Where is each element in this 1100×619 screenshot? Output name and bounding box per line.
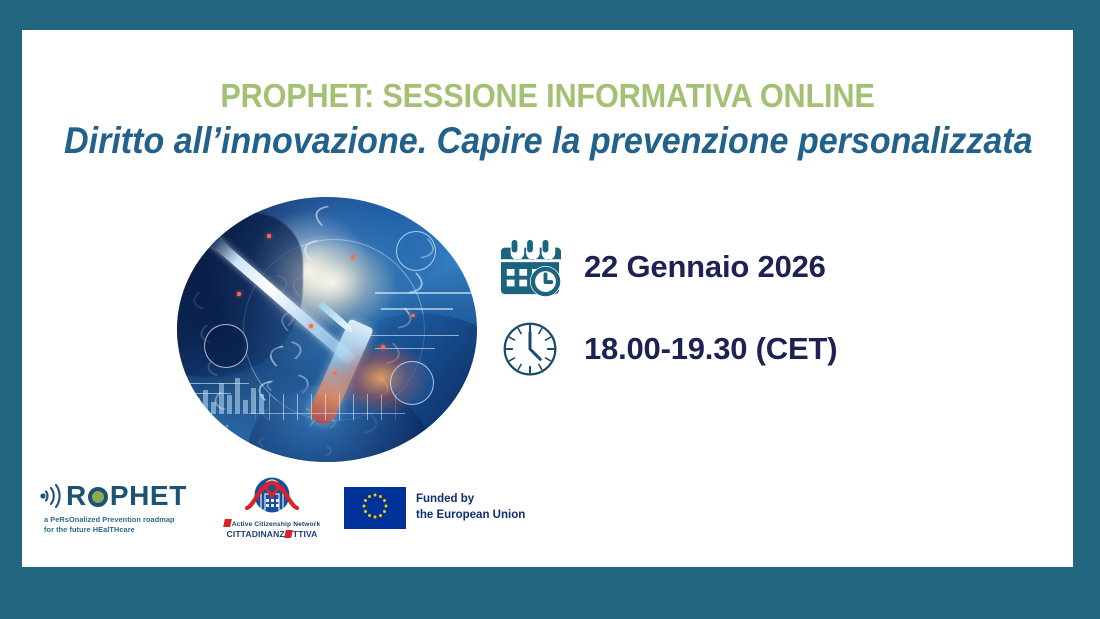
- prophet-letter-r: R: [66, 482, 87, 510]
- title-block: PROPHET: SESSIONE INFORMATIVA ONLINE Dir…: [22, 78, 1073, 162]
- prophet-logo: R PHET a PeRsOnalized Prevention roadmap…: [40, 481, 208, 535]
- hero-image: [177, 197, 477, 462]
- hud-line: [375, 292, 477, 293]
- eu-funding-text: Funded by the European Union: [416, 492, 525, 523]
- cittadinanzattiva-wordmark: CITTADINANZTTIVA: [222, 529, 322, 539]
- prophet-letters-tail: PHET: [110, 482, 187, 510]
- page-title: PROPHET: SESSIONE INFORMATIVA ONLINE: [59, 78, 1036, 114]
- page-subtitle: Diritto all’innovazione. Capire la preve…: [64, 121, 1031, 162]
- event-date-text: 22 Gennaio 2026: [584, 249, 826, 285]
- eu-flag-icon: [344, 487, 406, 529]
- prophet-wordmark: R PHET: [40, 481, 208, 511]
- prophet-letters: R PHET: [66, 482, 187, 510]
- hud-line: [369, 335, 459, 336]
- prophet-tagline-line2: for the future HEalTHcare: [44, 525, 208, 535]
- skeleton-scan-icon: [396, 231, 436, 271]
- event-time-row: 18.00-19.30 (CET): [498, 308, 837, 390]
- active-citizenship-network-logo: Active Citizenship Network CITTADINANZTT…: [208, 477, 322, 539]
- acn-name-line: Active Citizenship Network: [222, 518, 322, 528]
- prophet-tagline: a PeRsOnalized Prevention roadmap for th…: [44, 515, 208, 535]
- hero-circle: [177, 197, 477, 462]
- poster-card: PROPHET: SESSIONE INFORMATIVA ONLINE Dir…: [22, 30, 1073, 567]
- event-date-row: 22 Gennaio 2026: [498, 226, 837, 308]
- calendar-clock-icon: [498, 235, 562, 299]
- hero-scene: [177, 197, 477, 462]
- brain-scan-icon: [204, 324, 248, 368]
- eu-funding-line1: Funded by: [416, 492, 525, 508]
- eu-funding-line2: the European Union: [416, 508, 525, 524]
- event-details: 22 Gennaio 2026: [498, 226, 837, 390]
- event-time-text: 18.00-19.30 (CET): [584, 331, 837, 367]
- prophet-tagline-line1: a PeRsOnalized Prevention roadmap: [44, 515, 208, 525]
- hud-line: [381, 308, 453, 309]
- ekg-waveform: [249, 394, 405, 420]
- poster-canvas: PROPHET: SESSIONE INFORMATIVA ONLINE Dir…: [0, 0, 1100, 619]
- european-union-funding-logo: Funded by the European Union: [344, 487, 525, 529]
- prophet-letter-o-ring: [88, 487, 108, 507]
- acn-emblem-icon: [241, 477, 303, 517]
- logo-bar: R PHET a PeRsOnalized Prevention roadmap…: [40, 475, 525, 541]
- signal-wave-icon: [40, 481, 66, 511]
- clock-icon: [498, 317, 562, 381]
